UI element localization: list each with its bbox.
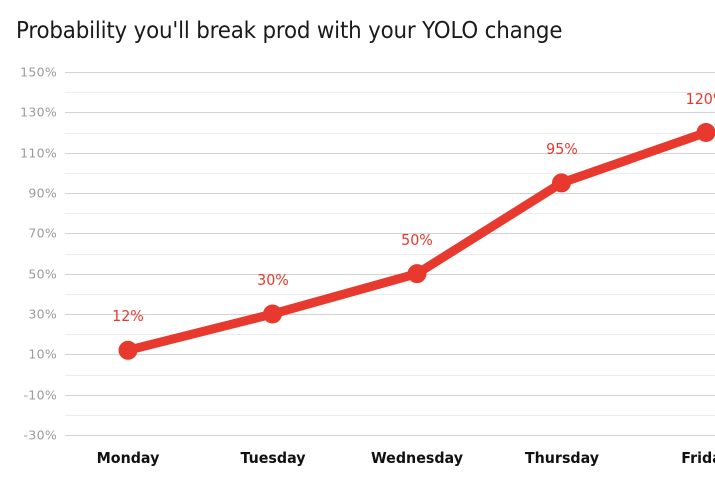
gridline-major	[65, 72, 715, 73]
gridline-minor	[65, 415, 715, 416]
data-point-label: 50%	[401, 231, 433, 249]
y-axis-tick-label: 30%	[0, 307, 57, 322]
x-axis-tick-label: Friday	[681, 449, 715, 467]
y-axis-tick-label: 70%	[0, 226, 57, 241]
gridline-major	[65, 112, 715, 113]
gridline-minor	[65, 92, 715, 93]
y-axis-tick-label: 130%	[0, 105, 57, 120]
y-axis-tick-label: 50%	[0, 266, 57, 281]
data-point-label: 30%	[257, 271, 289, 289]
gridline-major	[65, 354, 715, 355]
gridline-minor	[65, 254, 715, 255]
y-axis-tick-label: 110%	[0, 145, 57, 160]
gridline-major	[65, 193, 715, 194]
gridline-minor	[65, 173, 715, 174]
data-point-label: 95%	[546, 140, 578, 158]
data-point-label: 12%	[112, 307, 144, 325]
x-axis-tick-label: Monday	[97, 449, 160, 467]
chart-container: Probability you'll break prod with your …	[0, 0, 715, 480]
y-axis-tick-label: 90%	[0, 186, 57, 201]
x-axis-tick-label: Tuesday	[240, 449, 305, 467]
x-axis-tick-label: Thursday	[524, 449, 598, 467]
gridline-major	[65, 395, 715, 396]
gridline-major	[65, 435, 715, 436]
gridline-major	[65, 314, 715, 315]
x-axis-tick-label: Wednesday	[371, 449, 463, 467]
gridline-minor	[65, 213, 715, 214]
y-axis-tick-label: -30%	[0, 428, 57, 443]
y-axis-tick-label: 10%	[0, 347, 57, 362]
gridline-minor	[65, 294, 715, 295]
chart-title: Probability you'll break prod with your …	[16, 17, 562, 45]
gridline-major	[65, 153, 715, 154]
gridline-minor	[65, 133, 715, 134]
gridline-minor	[65, 375, 715, 376]
gridline-minor	[65, 334, 715, 335]
y-axis-tick-label: 150%	[0, 65, 57, 80]
y-axis-tick-label: -10%	[0, 387, 57, 402]
gridline-major	[65, 274, 715, 275]
data-point-label: 120%	[686, 90, 715, 108]
plot-area	[65, 72, 715, 435]
gridline-major	[65, 233, 715, 234]
